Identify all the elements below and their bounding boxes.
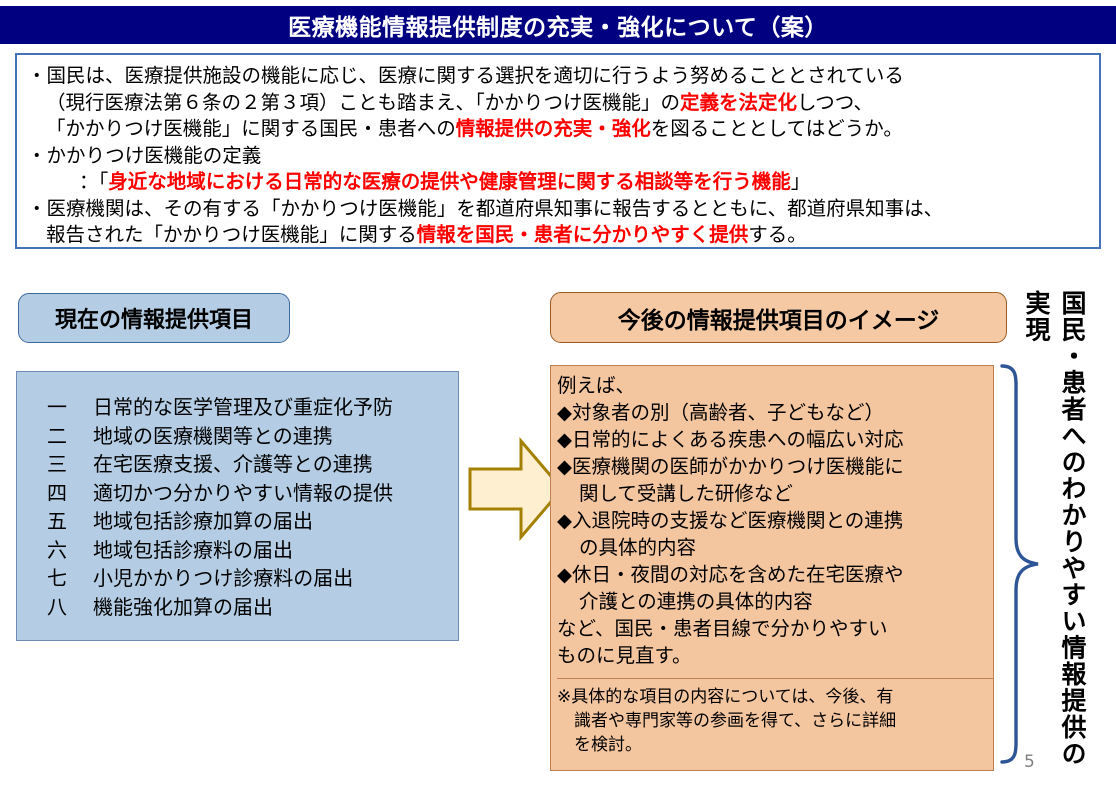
outcome-vertical-label: 国民・患者へのわかりやすい情報提供の実現 (1018, 290, 1090, 768)
current-item-row: 三在宅医療支援、介護等との連携 (17, 450, 458, 479)
current-item-number: 四 (47, 479, 93, 508)
page-title: 医療機能情報提供制度の充実・強化について（案） (288, 8, 828, 42)
summary-line-6: ・医療機関は、その有する「かかりつけ医機能」を都道府県知事に報告するとともに、都… (27, 196, 1091, 223)
future-items-footnote: ※具体的な項目の内容については、今後、有識者や専門家等の参画を得て、さらに詳細を… (557, 678, 993, 757)
current-item-row: 一日常的な医学管理及び重症化予防 (17, 393, 458, 422)
current-item-number: 三 (47, 450, 93, 479)
summary-plain-text: ・医療機関は、その有する「かかりつけ医機能」を都道府県知事に報告するとともに、都… (27, 197, 943, 220)
summary-plain-text: ：「 (79, 170, 108, 193)
current-item-number: 二 (47, 422, 93, 451)
future-item-line: ものに見直す。 (557, 642, 993, 669)
current-item-number: 一 (47, 393, 93, 422)
summary-plain-text: する。 (748, 223, 807, 246)
footnote-line: を検討。 (557, 733, 989, 757)
future-item-line: 関して受講した研修など (557, 480, 993, 507)
future-item-line: 介護との連携の具体的内容 (557, 588, 993, 615)
outcome-vertical-text: 国民・患者へのわかりやすい情報提供の実現 (1036, 290, 1072, 768)
current-item-row: 五地域包括診療加算の届出 (17, 507, 458, 536)
future-item-line: ◆対象者の別（高齢者、子どもなど） (557, 399, 993, 426)
summary-line-1: ・国民は、医療提供施設の機能に応じ、医療に関する選択を適切に行うよう努めることと… (27, 63, 1091, 90)
footnote-line: ※具体的な項目の内容については、今後、有 (557, 685, 989, 709)
current-item-row: 七小児かかりつけ診療料の届出 (17, 564, 458, 593)
current-item-number: 八 (47, 593, 93, 622)
footnote-line: 識者や専門家等の参画を得て、さらに詳細 (557, 709, 989, 733)
summary-plain-text: ・国民は、医療提供施設の機能に応じ、医療に関する選択を適切に行うよう努めることと… (27, 64, 904, 87)
future-items-header: 今後の情報提供項目のイメージ (550, 292, 1007, 343)
current-item-number: 七 (47, 564, 93, 593)
summary-plain-text: （現行医療法第６条の２第３項）ことも踏まえ、「かかりつけ医機能」の (46, 91, 680, 114)
current-item-number: 六 (47, 536, 93, 565)
summary-plain-text: を図ることとしてはどうか。 (651, 117, 903, 140)
current-item-label: 日常的な医学管理及び重症化予防 (93, 393, 393, 422)
page-number: 5 (1024, 752, 1035, 772)
current-items-header-label: 現在の情報提供項目 (55, 302, 253, 334)
summary-text-box: ・国民は、医療提供施設の機能に応じ、医療に関する選択を適切に行うよう努めることと… (15, 53, 1101, 249)
future-item-line: ◆入退院時の支援など医療機関との連携 (557, 507, 993, 534)
current-item-row: 四適切かつ分かりやすい情報の提供 (17, 479, 458, 508)
future-item-line: ◆休日・夜間の対応を含めた在宅医療や (557, 561, 993, 588)
summary-emphasis-text: 情報を国民・患者に分かりやすく提供 (417, 223, 749, 246)
current-item-number: 五 (47, 507, 93, 536)
summary-line-7: 報告された「かかりつけ医機能」に関する情報を国民・患者に分かりやすく提供する。 (27, 222, 1091, 249)
current-items-list: 一日常的な医学管理及び重症化予防二地域の医療機関等との連携三在宅医療支援、介護等… (16, 371, 459, 641)
current-item-label: 小児かかりつけ診療料の届出 (93, 564, 353, 593)
current-item-label: 機能強化加算の届出 (93, 593, 273, 622)
current-item-row: 二地域の医療機関等との連携 (17, 422, 458, 451)
current-item-label: 地域包括診療料の届出 (93, 536, 293, 565)
future-items-header-label: 今後の情報提供項目のイメージ (618, 301, 940, 335)
future-items-box: 例えば、◆対象者の別（高齢者、子どもなど）◆日常的によくある疾患への幅広い対応◆… (550, 365, 994, 771)
summary-plain-text: しつつ、 (797, 91, 873, 114)
summary-line-2: （現行医療法第６条の２第３項）ことも踏まえ、「かかりつけ医機能」の定義を法定化し… (27, 90, 1091, 117)
future-item-line: の具体的内容 (557, 534, 993, 561)
future-item-line: など、国民・患者目線で分かりやすい (557, 615, 993, 642)
slide-title-bar: 医療機能情報提供制度の充実・強化について（案） (0, 6, 1116, 44)
future-item-line: ◆医療機関の医師がかかりつけ医機能に (557, 453, 993, 480)
summary-emphasis-text: 定義を法定化 (680, 91, 797, 114)
summary-plain-text: ・かかりつけ医機能の定義 (27, 144, 261, 167)
summary-plain-text: 」 (791, 170, 811, 193)
future-item-line: 例えば、 (557, 372, 993, 399)
current-item-row: 八機能強化加算の届出 (17, 593, 458, 622)
summary-emphasis-text: 情報提供の充実・強化 (456, 117, 651, 140)
current-item-label: 適切かつ分かりやすい情報の提供 (93, 479, 393, 508)
current-item-label: 地域包括診療加算の届出 (93, 507, 313, 536)
current-item-label: 在宅医療支援、介護等との連携 (93, 450, 373, 479)
current-item-row: 六地域包括診療料の届出 (17, 536, 458, 565)
current-items-header: 現在の情報提供項目 (18, 293, 290, 343)
summary-plain-text: 「かかりつけ医機能」に関する国民・患者への (46, 117, 456, 140)
summary-emphasis-text: 身近な地域における日常的な医療の提供や健康管理に関する相談等を行う機能 (108, 170, 791, 193)
future-items-lines: 例えば、◆対象者の別（高齢者、子どもなど）◆日常的によくある疾患への幅広い対応◆… (557, 372, 993, 669)
future-item-line: ◆日常的によくある疾患への幅広い対応 (557, 426, 993, 453)
summary-line-3: 「かかりつけ医機能」に関する国民・患者への情報提供の充実・強化を図ることとしては… (27, 116, 1091, 143)
summary-line-4: ・かかりつけ医機能の定義 (27, 143, 1091, 170)
current-item-label: 地域の医療機関等との連携 (93, 422, 333, 451)
summary-line-5: ：「身近な地域における日常的な医療の提供や健康管理に関する相談等を行う機能」 (27, 169, 1091, 196)
summary-plain-text: 報告された「かかりつけ医機能」に関する (46, 223, 417, 246)
